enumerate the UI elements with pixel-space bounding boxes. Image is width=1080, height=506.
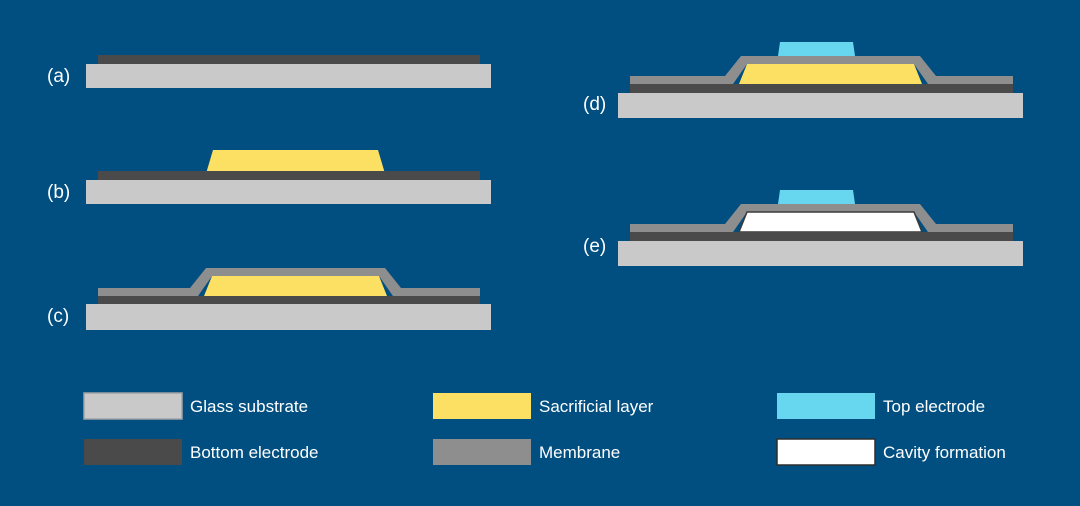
legend-membrane-swatch bbox=[433, 439, 531, 465]
panel-e-label: (e) bbox=[583, 236, 606, 257]
legend-top-electrode-swatch bbox=[777, 393, 875, 419]
panel-d-glass-substrate bbox=[618, 93, 1023, 118]
legend-membrane-label: Membrane bbox=[539, 443, 620, 462]
legend-bottom-electrode-swatch bbox=[84, 439, 182, 465]
legend-bottom-electrode: Bottom electrode bbox=[84, 439, 319, 465]
panel-a-bottom-electrode bbox=[98, 55, 480, 64]
panel-e-bottom-electrode bbox=[630, 232, 1013, 241]
panel-d-label: (d) bbox=[583, 94, 606, 115]
legend-membrane: Membrane bbox=[433, 439, 620, 465]
panel-c-glass-substrate bbox=[86, 304, 491, 330]
legend-cavity-formation-label: Cavity formation bbox=[883, 443, 1006, 462]
panel-e-cavity-formation bbox=[739, 212, 922, 232]
legend-sacrificial-layer: Sacrificial layer bbox=[433, 393, 654, 419]
panel-a-label: (a) bbox=[47, 66, 70, 87]
panel-b-label: (b) bbox=[47, 182, 70, 203]
legend-glass-substrate-label: Glass substrate bbox=[190, 397, 308, 416]
panel-b-bottom-electrode bbox=[98, 171, 480, 180]
panel-a: (a) bbox=[47, 55, 491, 88]
legend-cavity-formation: Cavity formation bbox=[777, 439, 1006, 465]
panel-c-bottom-electrode bbox=[98, 296, 480, 304]
legend-sacrificial-layer-swatch bbox=[433, 393, 531, 419]
panel-d-bottom-electrode bbox=[630, 84, 1013, 93]
legend-cavity-formation-swatch bbox=[777, 439, 875, 465]
panel-c-sacrificial-layer bbox=[204, 276, 387, 296]
diagram-canvas: (a)(b)(c)(d)(e) Glass substrateBottom el… bbox=[0, 0, 1080, 506]
legend-top-electrode-label: Top electrode bbox=[883, 397, 985, 416]
process-flow-figure: (a)(b)(c)(d)(e) Glass substrateBottom el… bbox=[0, 0, 1080, 506]
panel-c-label: (c) bbox=[47, 306, 69, 327]
panel-e-glass-substrate bbox=[618, 241, 1023, 266]
panel-b-glass-substrate bbox=[86, 180, 491, 204]
panel-d-sacrificial-layer bbox=[739, 64, 922, 84]
panel-a-glass-substrate bbox=[86, 64, 491, 88]
legend-glass-substrate-swatch bbox=[84, 393, 182, 419]
legend-glass-substrate: Glass substrate bbox=[84, 393, 308, 419]
legend-sacrificial-layer-label: Sacrificial layer bbox=[539, 397, 654, 416]
legend-bottom-electrode-label: Bottom electrode bbox=[190, 443, 319, 462]
